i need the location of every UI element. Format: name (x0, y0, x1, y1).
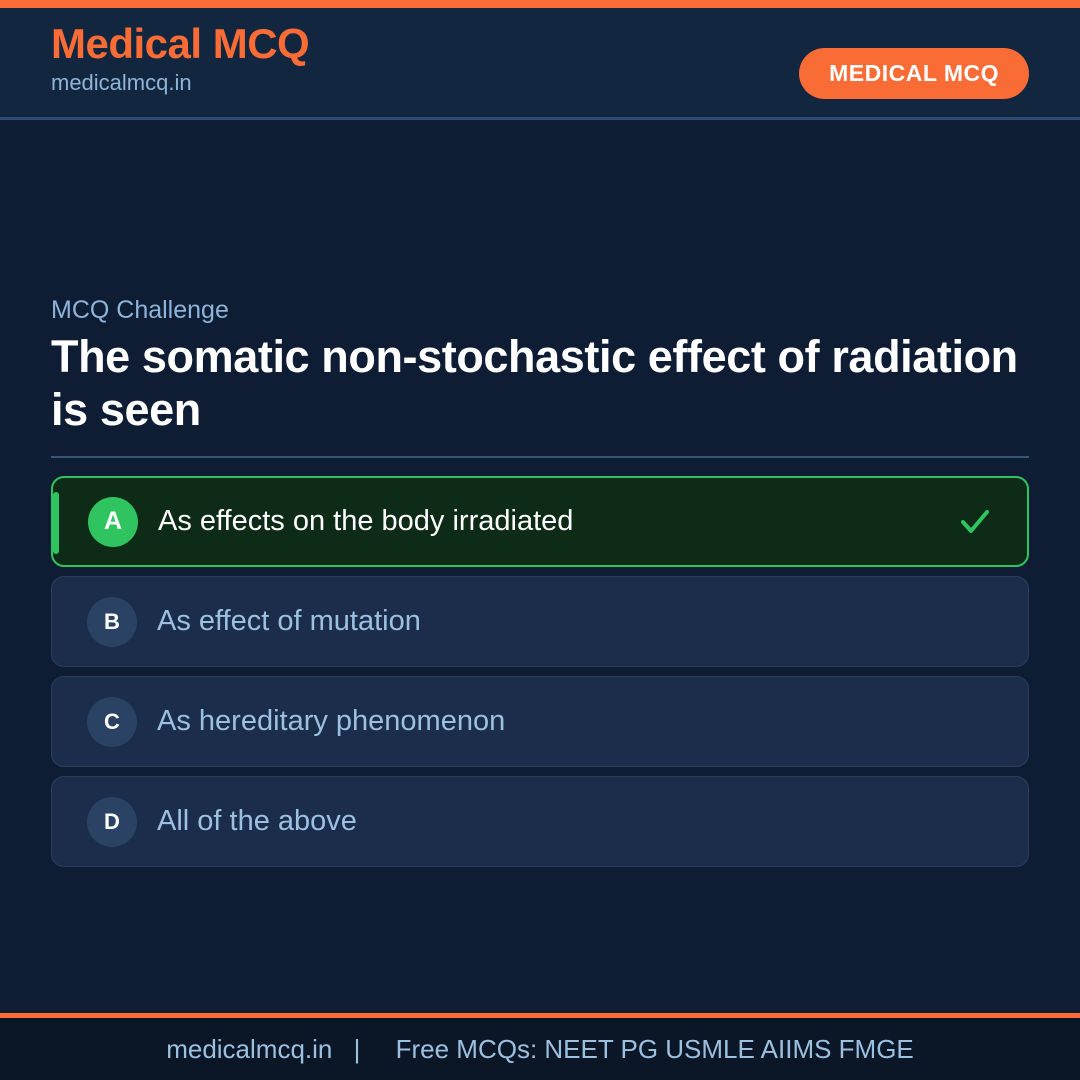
option-b-accent (52, 591, 58, 653)
question-block: MCQ Challenge The somatic non-stochastic… (51, 295, 1029, 436)
options-list: A As effects on the body irradiated B As… (51, 476, 1029, 876)
question-title: The somatic non-stochastic effect of rad… (51, 331, 1029, 436)
option-b-text: As effect of mutation (157, 604, 1028, 639)
option-c-accent (52, 691, 58, 753)
option-d-text: All of the above (157, 804, 1028, 839)
option-d[interactable]: D All of the above (51, 776, 1029, 867)
main-content: MCQ Challenge The somatic non-stochastic… (0, 123, 1080, 1013)
option-d-accent (52, 791, 58, 853)
footer-separator: | (354, 1034, 361, 1064)
option-a-badge: A (88, 497, 138, 547)
top-accent-bar (0, 0, 1080, 8)
option-c-text: As hereditary phenomenon (157, 704, 1028, 739)
header-badge: MEDICAL MCQ (799, 48, 1029, 99)
page-header: Medical MCQ medicalmcq.in MEDICAL MCQ (0, 8, 1080, 120)
footer-line: medicalmcq.in | Free MCQs: NEET PG USMLE… (166, 1034, 914, 1065)
option-d-badge: D (87, 797, 137, 847)
option-b-badge: B (87, 597, 137, 647)
footer-site: medicalmcq.in (166, 1034, 332, 1064)
page-footer: medicalmcq.in | Free MCQs: NEET PG USMLE… (0, 1013, 1080, 1080)
question-divider (51, 456, 1029, 458)
option-a-accent (53, 492, 59, 554)
footer-tagline: Free MCQs: NEET PG USMLE AIIMS FMGE (396, 1034, 914, 1064)
option-a[interactable]: A As effects on the body irradiated (51, 476, 1029, 567)
option-b[interactable]: B As effect of mutation (51, 576, 1029, 667)
brand-subtitle: medicalmcq.in (51, 70, 309, 96)
option-a-text: As effects on the body irradiated (158, 504, 958, 539)
brand-title: Medical MCQ (51, 22, 309, 66)
option-c[interactable]: C As hereditary phenomenon (51, 676, 1029, 767)
option-c-badge: C (87, 697, 137, 747)
checkmark-icon (958, 505, 992, 539)
question-kicker: MCQ Challenge (51, 295, 1029, 325)
brand: Medical MCQ medicalmcq.in (51, 22, 309, 96)
